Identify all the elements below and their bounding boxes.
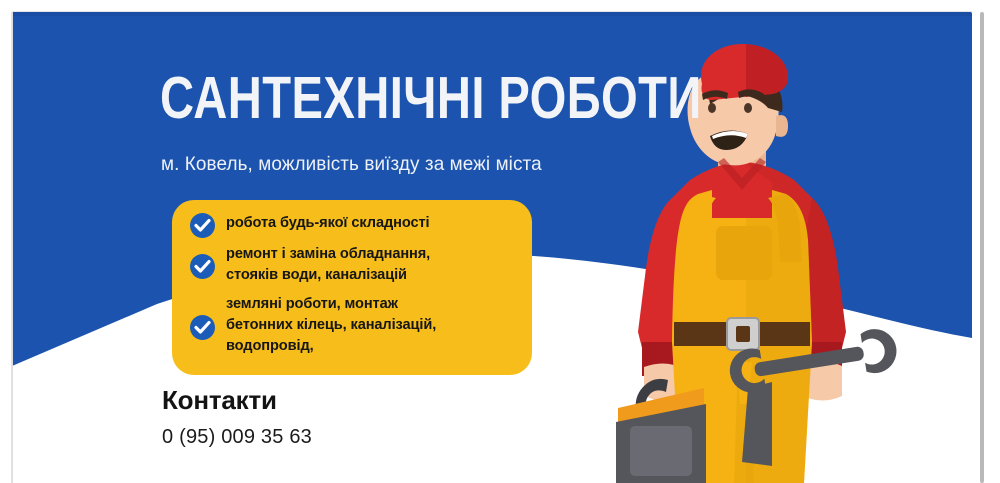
page-surface: САНТЕХНІЧНІ РОБОТИ м. Ковель, можливість… <box>12 12 972 483</box>
page-title: САНТЕХНІЧНІ РОБОТИ <box>160 68 702 128</box>
check-circle-icon <box>190 315 215 340</box>
feature-text: робота будь-якої складності <box>226 213 430 234</box>
check-circle-icon <box>190 213 215 238</box>
chest-pocket <box>716 226 772 280</box>
scrollbar-thumb[interactable] <box>980 12 984 483</box>
list-item: земляні роботи, монтаж бетонних кілець, … <box>190 294 436 357</box>
features-card: робота будь-якої складності ремонт і зам… <box>172 200 532 375</box>
feature-text: земляні роботи, монтаж бетонних кілець, … <box>226 294 436 357</box>
check-circle-icon <box>190 254 215 279</box>
list-item: ремонт і заміна обладнання, стояків води… <box>190 244 430 286</box>
list-item: робота будь-якої складності <box>190 213 430 238</box>
screenshot-root: САНТЕХНІЧНІ РОБОТИ м. Ковель, можливість… <box>0 0 1000 483</box>
page-left-edge <box>12 12 13 483</box>
page-subtitle: м. Ковель, можливість виїзду за межі міс… <box>161 152 542 176</box>
plumbing-services-banner: САНТЕХНІЧНІ РОБОТИ м. Ковель, можливість… <box>12 12 972 483</box>
contact-phone-number[interactable]: 0 (95) 009 35 63 <box>162 426 312 449</box>
feature-text: ремонт і заміна обладнання, стояків води… <box>226 244 430 286</box>
contacts-heading: Контакти <box>162 385 277 416</box>
